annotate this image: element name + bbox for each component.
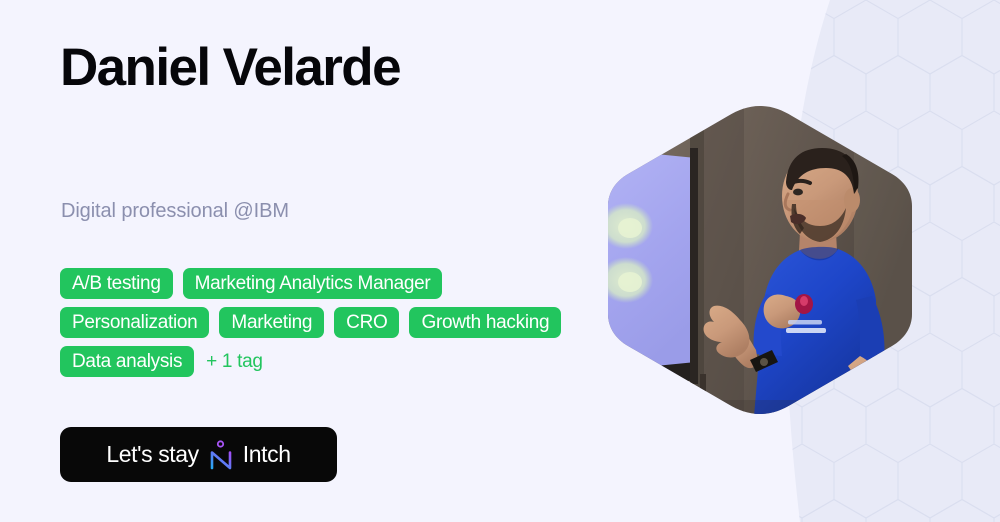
tag-list: A/B testing Marketing Analytics Manager … [60,268,580,377]
profile-photo [604,104,916,416]
tag-chip[interactable]: Marketing Analytics Manager [183,268,443,299]
cta-brand: Intch [243,441,291,468]
lets-stay-intch-button[interactable]: Let's stay Intch [60,427,337,482]
tag-chip[interactable]: Marketing [219,307,324,338]
tag-chip[interactable]: CRO [334,307,399,338]
profile-content: Daniel Velarde Digital professional @IBM… [60,0,620,522]
tag-chip[interactable]: Data analysis [60,346,194,377]
tag-chip[interactable]: Growth hacking [409,307,561,338]
profile-photo-hexagon-icon [604,104,916,416]
page-title: Daniel Velarde [60,39,400,96]
cta-label: Let's stay [106,441,198,468]
tag-chip[interactable]: Personalization [60,307,209,338]
intch-n-logo-icon [208,440,234,470]
profile-headline: Digital professional @IBM [61,198,289,224]
tag-chip[interactable]: A/B testing [60,268,173,299]
profile-card: Daniel Velarde Digital professional @IBM… [0,0,1000,522]
more-tags-label[interactable]: + 1 tag [204,346,263,377]
